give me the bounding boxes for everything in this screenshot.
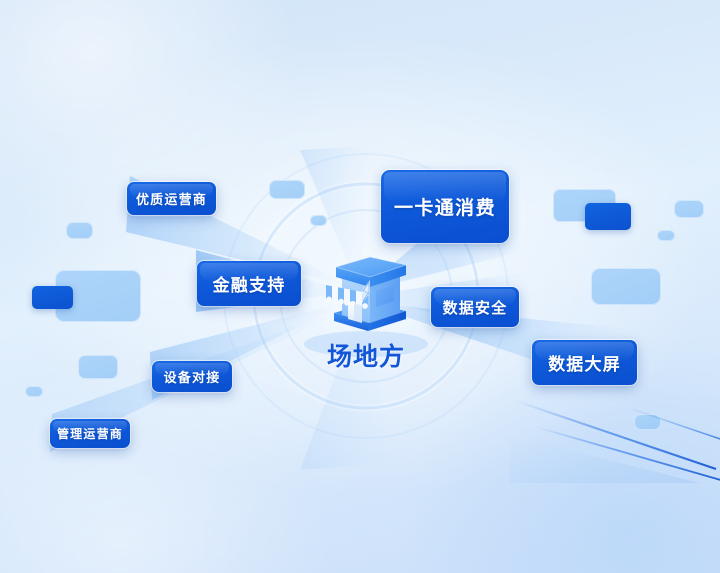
shop-awning xyxy=(326,280,370,309)
decor-rect-light-2 xyxy=(55,270,141,322)
decor-rect-light-6 xyxy=(310,215,327,226)
node-data-dashboard[interactable]: 数据大屏 xyxy=(532,340,637,385)
decor-rect-light-5 xyxy=(269,180,305,199)
radial-beams-graphic xyxy=(0,0,720,573)
decor-rect-light-11 xyxy=(634,414,661,430)
decor-rect-light-7 xyxy=(553,189,616,222)
shop-side-window xyxy=(376,285,394,307)
decor-rect-solid-1 xyxy=(32,286,73,309)
shop-body xyxy=(342,271,400,323)
decor-rect-light-3 xyxy=(78,355,118,379)
node-manage-operator[interactable]: 管理运营商 xyxy=(50,419,130,448)
decor-rect-light-1 xyxy=(66,222,93,239)
decor-rect-light-4 xyxy=(25,386,43,397)
decor-rect-light-9 xyxy=(591,268,661,305)
shop-roof xyxy=(336,257,406,287)
node-card-payment[interactable]: 一卡通消费 xyxy=(381,170,509,243)
node-quality-operator[interactable]: 优质运营商 xyxy=(127,182,216,215)
decor-rect-light-10 xyxy=(674,200,704,218)
node-data-security[interactable]: 数据安全 xyxy=(431,287,519,327)
decor-rect-light-8 xyxy=(657,230,675,241)
node-device-docking[interactable]: 设备对接 xyxy=(152,361,232,392)
shop-base xyxy=(334,303,406,331)
node-financial-support[interactable]: 金融支持 xyxy=(197,261,301,306)
scene-canvas: 场地方 一卡通消费 金融支持 优质运营商 设备对接 管理运营商 数据安全 数据大… xyxy=(0,0,720,573)
decor-rect-solid-2 xyxy=(585,203,631,230)
storefront-icon-svg xyxy=(310,243,422,339)
storefront-icon xyxy=(310,243,422,339)
awning-scallops xyxy=(326,297,368,309)
shop-door xyxy=(348,301,362,323)
background-glow-bottom-left xyxy=(0,363,330,573)
center-label: 场地方 xyxy=(305,337,427,373)
